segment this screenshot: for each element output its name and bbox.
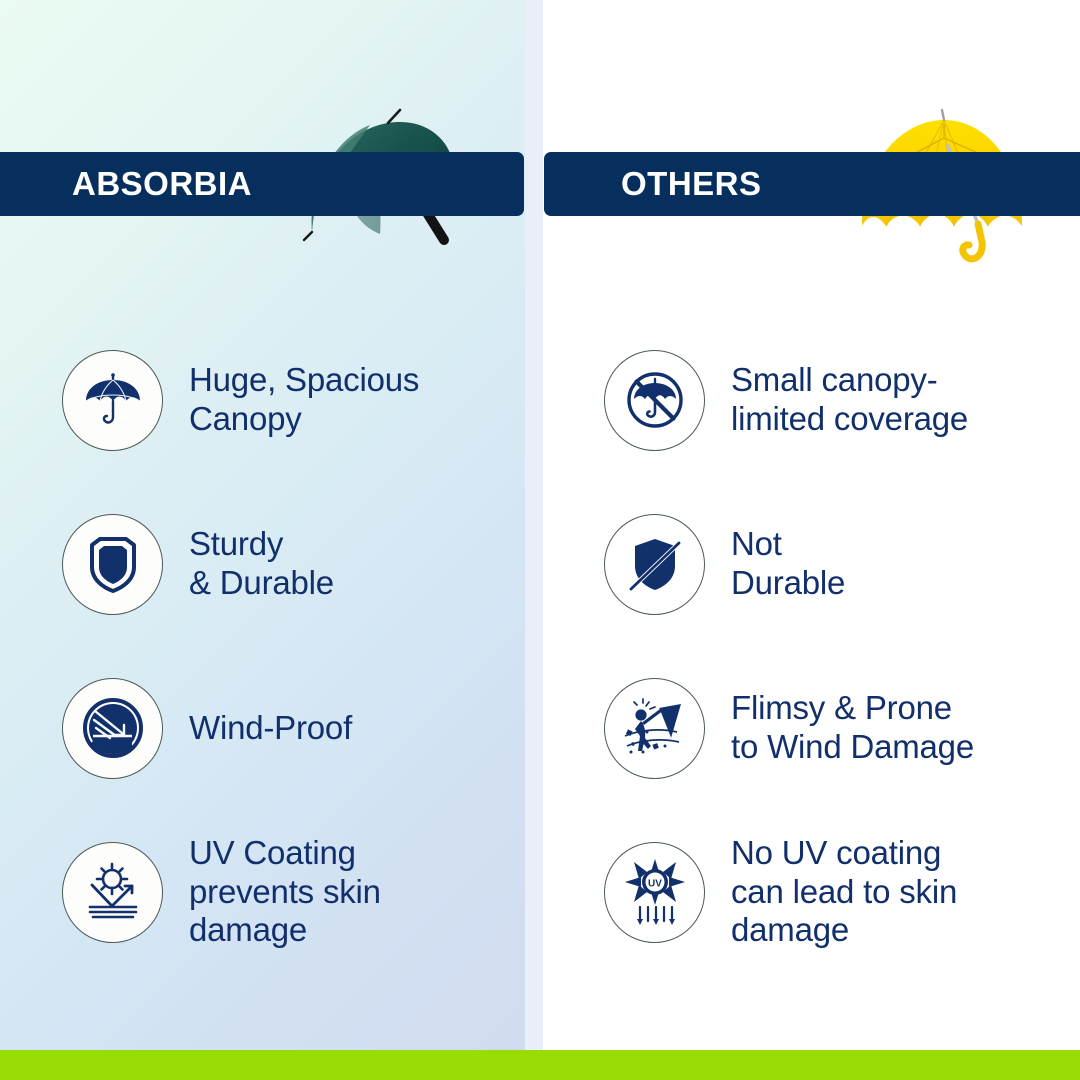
feature-row: Huge, Spacious Canopy xyxy=(62,318,542,482)
others-feature-list: Small canopy- limited coverage Not Durab… xyxy=(604,318,1080,974)
absorbia-feature-list: Huge, Spacious Canopy Sturdy & Durable xyxy=(62,318,542,974)
feature-text: UV Coating prevents skin damage xyxy=(189,834,381,950)
feature-text: No UV coating can lead to skin damage xyxy=(731,834,957,950)
feature-row: UV Coating prevents skin damage xyxy=(62,810,542,974)
wind-proof-icon xyxy=(62,678,163,779)
header-banner-absorbia: ABSORBIA xyxy=(0,152,524,216)
feature-row: Flimsy & Prone to Wind Damage xyxy=(604,646,1080,810)
feature-row: Small canopy- limited coverage xyxy=(604,318,1080,482)
comparison-infographic: ABSORBIA OTHERS Huge, Spacious Canopy xyxy=(0,0,1080,1080)
feature-text: Sturdy & Durable xyxy=(189,525,334,602)
feature-row: Not Durable xyxy=(604,482,1080,646)
umbrella-open-icon xyxy=(62,350,163,451)
uv-reflect-icon xyxy=(62,842,163,943)
header-banner-others: OTHERS xyxy=(544,152,1080,216)
svg-text:UV: UV xyxy=(648,879,662,890)
feature-row: Sturdy & Durable xyxy=(62,482,542,646)
feature-row: Wind-Proof xyxy=(62,646,542,810)
bottom-accent-bar xyxy=(0,1050,1080,1080)
feature-text: Not Durable xyxy=(731,525,845,602)
feature-text: Flimsy & Prone to Wind Damage xyxy=(731,689,974,766)
feature-text: Wind-Proof xyxy=(189,709,352,748)
wind-damage-person-icon xyxy=(604,678,705,779)
umbrella-prohibited-icon xyxy=(604,350,705,451)
uv-rays-down-icon: UV xyxy=(604,842,705,943)
header-title-others: OTHERS xyxy=(621,165,762,203)
feature-text: Small canopy- limited coverage xyxy=(731,361,968,438)
shield-outline-icon xyxy=(62,514,163,615)
shield-slashed-icon xyxy=(604,514,705,615)
feature-text: Huge, Spacious Canopy xyxy=(189,361,419,438)
feature-row: UV No UV coating can lead to skin damage xyxy=(604,810,1080,974)
header-title-absorbia: ABSORBIA xyxy=(72,165,252,203)
